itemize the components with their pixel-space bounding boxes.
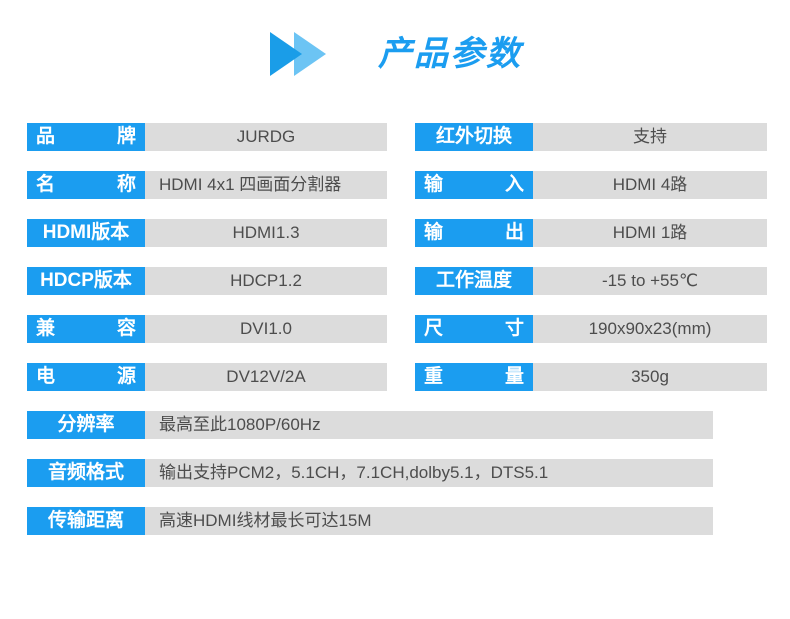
label-char: 寸 (505, 315, 524, 343)
label-char: 兼 (36, 315, 55, 343)
spec-value-name: HDMI 4x1 四画面分割器 (145, 171, 387, 199)
spec-item-name: 名 称 HDMI 4x1 四画面分割器 (27, 161, 387, 209)
spec-item-hdcp-version: HDCP版本 HDCP1.2 (27, 257, 387, 305)
spec-value-audio-format: 输出支持PCM2，5.1CH，7.1CH,dolby5.1，DTS5.1 (145, 459, 713, 487)
spec-value-operating-temperature: -15 to +55℃ (533, 267, 767, 295)
spec-value-resolution: 最高至此1080P/60Hz (145, 411, 713, 439)
label-char: 牌 (117, 123, 136, 151)
spec-label-input: 输 入 (415, 171, 533, 199)
label-char: 工作温度 (436, 267, 512, 295)
spec-table: 品 牌 JURDG 红外切换 支持 名 称 HDMI 4x1 四画面分割器 (0, 113, 790, 545)
product-spec-page: 产品参数 品 牌 JURDG 红外切换 支持 名 (0, 0, 790, 619)
double-triangle-icon (268, 32, 336, 76)
spec-item-resolution: 分辨率 最高至此1080P/60Hz (27, 401, 790, 449)
spec-label-hdcp-version: HDCP版本 (27, 267, 145, 295)
spec-item-weight: 重 量 350g (415, 353, 767, 401)
table-row: 电 源 DV12V/2A 重 量 350g (0, 353, 790, 401)
label-char: 输 (424, 171, 443, 199)
spec-item-operating-temperature: 工作温度 -15 to +55℃ (415, 257, 767, 305)
spec-value-hdcp-version: HDCP1.2 (145, 267, 387, 295)
table-row: 兼 容 DVI1.0 尺 寸 190x90x23(mm) (0, 305, 790, 353)
spec-label-dimensions: 尺 寸 (415, 315, 533, 343)
spec-item-input: 输 入 HDMI 4路 (415, 161, 767, 209)
triangle-right-front-icon (270, 32, 302, 76)
label-char: HDMI版本 (43, 219, 130, 247)
label-char: 尺 (424, 315, 443, 343)
spec-label-hdmi-version: HDMI版本 (27, 219, 145, 247)
spec-item-hdmi-version: HDMI版本 HDMI1.3 (27, 209, 387, 257)
label-char: 称 (117, 171, 136, 199)
spec-label-audio-format: 音频格式 (27, 459, 145, 487)
label-char: 量 (505, 363, 524, 391)
label-char: 红外切换 (436, 123, 512, 151)
spec-label-transmission-distance: 传输距离 (27, 507, 145, 535)
table-row: HDMI版本 HDMI1.3 输 出 HDMI 1路 (0, 209, 790, 257)
label-char: 输 (424, 219, 443, 247)
spec-item-ir-switch: 红外切换 支持 (415, 113, 767, 161)
label-char: 重 (424, 363, 443, 391)
spec-label-weight: 重 量 (415, 363, 533, 391)
label-char: 电 (36, 363, 55, 391)
table-row: 名 称 HDMI 4x1 四画面分割器 输 入 HDMI 4路 (0, 161, 790, 209)
spec-item-transmission-distance: 传输距离 高速HDMI线材最长可达15M (27, 497, 790, 545)
spec-value-ir-switch: 支持 (533, 123, 767, 151)
spec-value-input: HDMI 4路 (533, 171, 767, 199)
spec-value-weight: 350g (533, 363, 767, 391)
spec-label-brand: 品 牌 (27, 123, 145, 151)
spec-label-power: 电 源 (27, 363, 145, 391)
page-header: 产品参数 (0, 18, 790, 90)
spec-item-power: 电 源 DV12V/2A (27, 353, 387, 401)
label-char: 入 (505, 171, 524, 199)
spec-value-power: DV12V/2A (145, 363, 387, 391)
spec-label-resolution: 分辨率 (27, 411, 145, 439)
label-char: 源 (117, 363, 136, 391)
spec-value-compatibility: DVI1.0 (145, 315, 387, 343)
label-char: 名 (36, 171, 55, 199)
spec-label-output: 输 出 (415, 219, 533, 247)
spec-value-brand: JURDG (145, 123, 387, 151)
table-row: 分辨率 最高至此1080P/60Hz (0, 401, 790, 449)
label-char: 出 (505, 219, 524, 247)
spec-label-compatibility: 兼 容 (27, 315, 145, 343)
spec-label-name: 名 称 (27, 171, 145, 199)
spec-label-ir-switch: 红外切换 (415, 123, 533, 151)
spec-value-hdmi-version: HDMI1.3 (145, 219, 387, 247)
label-char: HDCP版本 (40, 267, 132, 295)
spec-value-output: HDMI 1路 (533, 219, 767, 247)
label-char: 容 (117, 315, 136, 343)
spec-value-dimensions: 190x90x23(mm) (533, 315, 767, 343)
table-row: HDCP版本 HDCP1.2 工作温度 -15 to +55℃ (0, 257, 790, 305)
table-row: 传输距离 高速HDMI线材最长可达15M (0, 497, 790, 545)
page-title: 产品参数 (378, 32, 522, 76)
spec-item-compatibility: 兼 容 DVI1.0 (27, 305, 387, 353)
spec-item-audio-format: 音频格式 输出支持PCM2，5.1CH，7.1CH,dolby5.1，DTS5.… (27, 449, 790, 497)
table-row: 音频格式 输出支持PCM2，5.1CH，7.1CH,dolby5.1，DTS5.… (0, 449, 790, 497)
spec-value-transmission-distance: 高速HDMI线材最长可达15M (145, 507, 713, 535)
spec-label-operating-temperature: 工作温度 (415, 267, 533, 295)
spec-item-brand: 品 牌 JURDG (27, 113, 387, 161)
label-char: 品 (36, 123, 55, 151)
table-row: 品 牌 JURDG 红外切换 支持 (0, 113, 790, 161)
spec-item-output: 输 出 HDMI 1路 (415, 209, 767, 257)
spec-item-dimensions: 尺 寸 190x90x23(mm) (415, 305, 767, 353)
